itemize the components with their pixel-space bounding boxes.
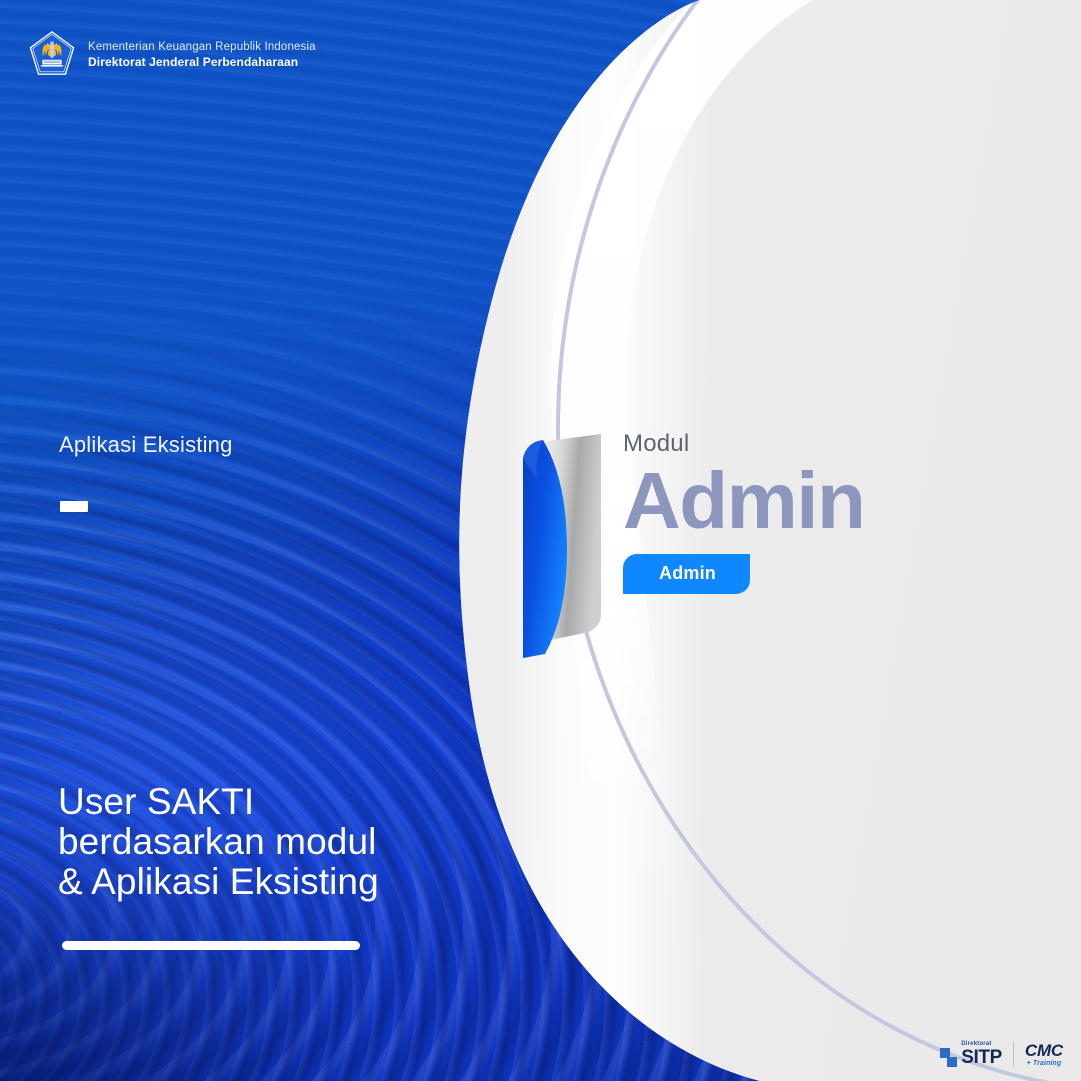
headline-line-3: & Aplikasi Eksisting [58, 862, 379, 902]
cmc-logo: CMC + Training [1025, 1042, 1063, 1067]
page-curl-bookmark-icon [505, 428, 620, 673]
headline: User SAKTI berdasarkan modul & Aplikasi … [58, 782, 379, 902]
sitp-wordmark: Direktorat SITP [961, 1041, 1002, 1067]
sitp-logo: Direktorat SITP [940, 1041, 1002, 1067]
kemenkeu-emblem-icon [28, 30, 76, 78]
module-label: Modul [623, 430, 864, 458]
directorate-name: Direktorat Jenderal Perbendaharaan [88, 55, 316, 70]
ministry-header: Kementerian Keuangan Republik Indonesia … [28, 30, 316, 78]
sitp-name-label: SITP [961, 1048, 1002, 1067]
module-info-block: Modul Admin Admin [623, 430, 864, 594]
eyebrow-label: Aplikasi Eksisting [59, 432, 233, 458]
ministry-text-block: Kementerian Keuangan Republik Indonesia … [88, 38, 316, 70]
module-badge: Admin [623, 554, 750, 594]
cmc-name-label: CMC [1025, 1042, 1063, 1059]
ministry-name: Kementerian Keuangan Republik Indonesia [88, 40, 316, 55]
eyebrow-dash [60, 501, 88, 512]
sitp-squares-icon [940, 1048, 957, 1067]
slide-canvas: Kementerian Keuangan Republik Indonesia … [0, 0, 1081, 1081]
logo-divider [1013, 1042, 1014, 1067]
cmc-training-label: + Training [1025, 1060, 1063, 1067]
headline-line-2: berdasarkan modul [58, 822, 379, 862]
headline-underline-bar [62, 941, 360, 950]
headline-line-1: User SAKTI [58, 782, 379, 822]
module-title: Admin [623, 460, 864, 542]
footer-logos: Direktorat SITP CMC + Training [940, 1041, 1063, 1067]
